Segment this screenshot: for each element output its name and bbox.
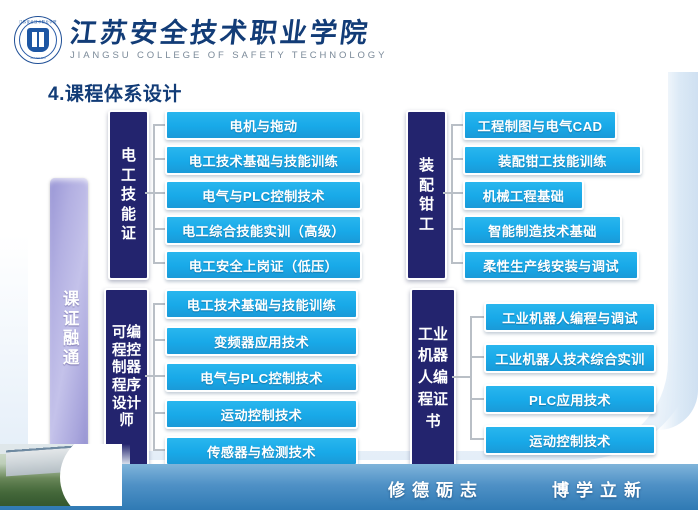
course-box[interactable]: 工程制图与电气CAD [463, 110, 617, 140]
category-assembly-fitter[interactable]: 装 配 钳 工 [406, 110, 447, 280]
seal-top-text: 江苏安全技术职业学院 [15, 19, 61, 24]
course-box[interactable]: 工业机器人技术综合实训 [484, 343, 656, 373]
category-industrial-robot-label: 工业 机器 人编 程证 书 [418, 324, 448, 433]
institution-logo: 江苏安全技术职业学院 JIANGSU 江苏安全技术职业学院 JIANGSU CO… [14, 16, 387, 64]
slide-header: 江苏安全技术职业学院 JIANGSU 江苏安全技术职业学院 JIANGSU CO… [0, 0, 698, 72]
connector-industrial-robot [452, 288, 484, 464]
courses-electrician: 电机与拖动 电工技术基础与技能训练 电气与PLC控制技术 电工综合技能实训（高级… [165, 110, 360, 276]
campus-photo [0, 444, 122, 506]
group-electrician: 电 工 技 能 证 电机与拖动 电工技术基础与技能训练 电气与PLC控制技术 电… [108, 110, 360, 278]
course-box[interactable]: 运动控制技术 [484, 425, 656, 455]
category-industrial-robot[interactable]: 工业 机器 人编 程证 书 [410, 288, 456, 468]
group-industrial-robot: 工业 机器 人编 程证 书 工业机器人编程与调试 工业机器人技术综合实训 PLC… [410, 288, 660, 466]
course-box[interactable]: 电气与PLC控制技术 [165, 362, 358, 392]
course-box[interactable]: 运动控制技术 [165, 399, 358, 429]
university-seal-icon: 江苏安全技术职业学院 JIANGSU [14, 16, 62, 64]
institution-wordmark: 江苏安全技术职业学院 JIANGSU COLLEGE OF SAFETY TEC… [70, 20, 387, 61]
group-plc-programmer: 可编 程控 制器 程序 设计 师 电工技术基础与技能训练 变频器应用技术 电气与… [104, 288, 360, 466]
category-plc-programmer-label: 可编 程控 制器 程序 设计 师 [112, 325, 141, 431]
course-box[interactable]: 电工综合技能实训（高级） [165, 215, 362, 245]
connector-assembly-fitter [443, 110, 463, 276]
category-assembly-fitter-label: 装 配 钳 工 [419, 156, 434, 234]
course-box[interactable]: 电工技术基础与技能训练 [165, 145, 362, 175]
course-box[interactable]: 变频器应用技术 [165, 326, 358, 356]
courses-industrial-robot: 工业机器人编程与调试 工业机器人技术综合实训 PLC应用技术 运动控制技术 [484, 288, 656, 464]
course-box[interactable]: 装配钳工技能训练 [463, 145, 642, 175]
course-box[interactable]: 工业机器人编程与调试 [484, 302, 656, 332]
institution-name-cn: 江苏安全技术职业学院 [68, 20, 389, 47]
course-box[interactable]: PLC应用技术 [484, 384, 656, 414]
connector-electrician [145, 110, 165, 276]
course-box[interactable]: 电气与PLC控制技术 [165, 180, 362, 210]
seal-bottom-text: JIANGSU [15, 56, 61, 60]
course-box[interactable]: 智能制造技术基础 [463, 215, 622, 245]
seal-shield-icon [27, 28, 49, 52]
slide-canvas: 江苏安全技术职业学院 JIANGSU 江苏安全技术职业学院 JIANGSU CO… [0, 0, 698, 510]
category-electrician[interactable]: 电 工 技 能 证 [108, 110, 149, 280]
course-box[interactable]: 电工技术基础与技能训练 [165, 289, 358, 319]
course-box[interactable]: 柔性生产线安装与调试 [463, 250, 639, 280]
course-box[interactable]: 机械工程基础 [463, 180, 584, 210]
group-assembly-fitter: 装 配 钳 工 工程制图与电气CAD 装配钳工技能训练 机械工程基础 智能制造技… [406, 110, 666, 278]
course-box[interactable]: 电机与拖动 [165, 110, 362, 140]
footer-motto-right: 博学立新 [552, 476, 648, 501]
courses-plc-programmer: 电工技术基础与技能训练 变频器应用技术 电气与PLC控制技术 运动控制技术 传感… [165, 288, 360, 464]
course-box[interactable]: 电工安全上岗证（低压） [165, 250, 362, 280]
photo-curve-mask [60, 444, 122, 506]
category-plc-programmer[interactable]: 可编 程控 制器 程序 设计 师 [104, 288, 149, 468]
connector-plc-programmer [145, 288, 165, 464]
course-box[interactable]: 传感器与检测技术 [165, 436, 358, 466]
category-electrician-label: 电 工 技 能 证 [121, 146, 136, 244]
institution-name-en: JIANGSU COLLEGE OF SAFETY TECHNOLOGY [70, 51, 387, 61]
pillar-ke-zheng-rong-tong: 课证融通 [50, 178, 88, 474]
courses-assembly-fitter: 工程制图与电气CAD 装配钳工技能训练 机械工程基础 智能制造技术基础 柔性生产… [463, 110, 668, 276]
footer-motto-left: 修德砺志 [388, 476, 484, 501]
pillar-label: 课证融通 [59, 290, 79, 368]
page-title: 4.课程体系设计 [48, 79, 182, 106]
